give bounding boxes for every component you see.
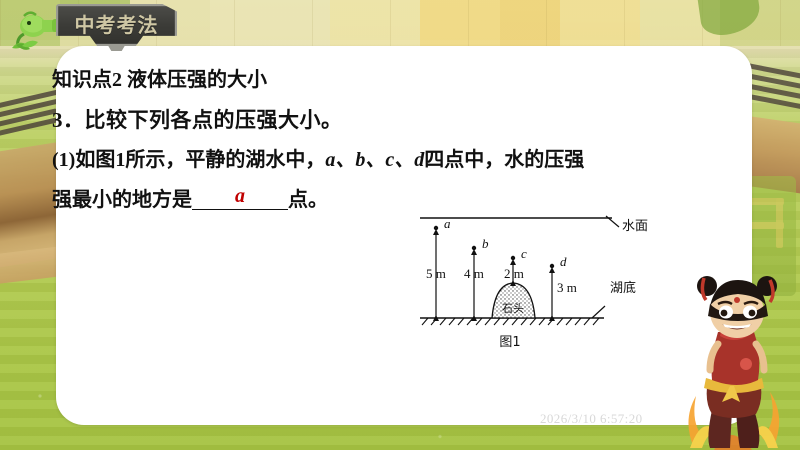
section-banner: 中考考法 xyxy=(56,4,177,46)
figure-point-c xyxy=(511,256,515,260)
answer-value: a xyxy=(192,176,288,216)
figure-bottom-label: 湖底 xyxy=(610,280,636,296)
figure-surface-label: 水面 xyxy=(622,219,648,234)
slide-root: 中考考法 知识点2 液体压强的大小 3．比较下列各点的压强大小。 (1)如图1所… xyxy=(0,0,800,450)
physics-figure: 水面 湖底 石头 a 5 xyxy=(416,206,678,352)
topic-line: 知识点2 液体压强的大小 xyxy=(52,60,752,100)
banner-label: 中考考法 xyxy=(56,9,177,38)
nezha-mascot xyxy=(674,260,794,450)
figure-stone-label: 石头 xyxy=(502,302,524,315)
answer-blank[interactable]: a xyxy=(192,185,288,210)
figure-depth-c: 2 m xyxy=(504,266,524,281)
figure-label-d: d xyxy=(560,254,567,269)
sub-question-text-1: (1)如图1所示，平静的湖水中， xyxy=(52,149,325,171)
point-names-inline: a、b、c、d xyxy=(325,149,424,171)
figure-depth-d: 3 m xyxy=(557,280,577,295)
figure-label-a: a xyxy=(444,216,451,231)
figure-point-b xyxy=(472,246,476,250)
figure-label-c: c xyxy=(521,246,527,261)
sub-question-text-4: 点。 xyxy=(288,189,328,211)
figure-depth-b: 4 m xyxy=(464,266,484,281)
timestamp: 2026/3/10 6:57:20 xyxy=(540,411,643,427)
figure-caption: 图1 xyxy=(499,335,520,350)
question-number-line: 3．比较下列各点的压强大小。 xyxy=(52,100,752,140)
figure-depth-a: 5 m xyxy=(426,266,446,281)
figure-label-b: b xyxy=(482,236,489,251)
question-text-block: 知识点2 液体压强的大小 3．比较下列各点的压强大小。 (1)如图1所示，平静的… xyxy=(52,60,752,220)
figure-point-d xyxy=(550,264,554,268)
sub-question-line-1: (1)如图1所示，平静的湖水中，a、b、c、d四点中，水的压强 xyxy=(52,140,752,180)
sub-question-text-2: 四点中，水的压强 xyxy=(424,149,584,171)
sub-question-text-3: 强最小的地方是 xyxy=(52,189,192,211)
figure-point-a xyxy=(434,226,438,230)
